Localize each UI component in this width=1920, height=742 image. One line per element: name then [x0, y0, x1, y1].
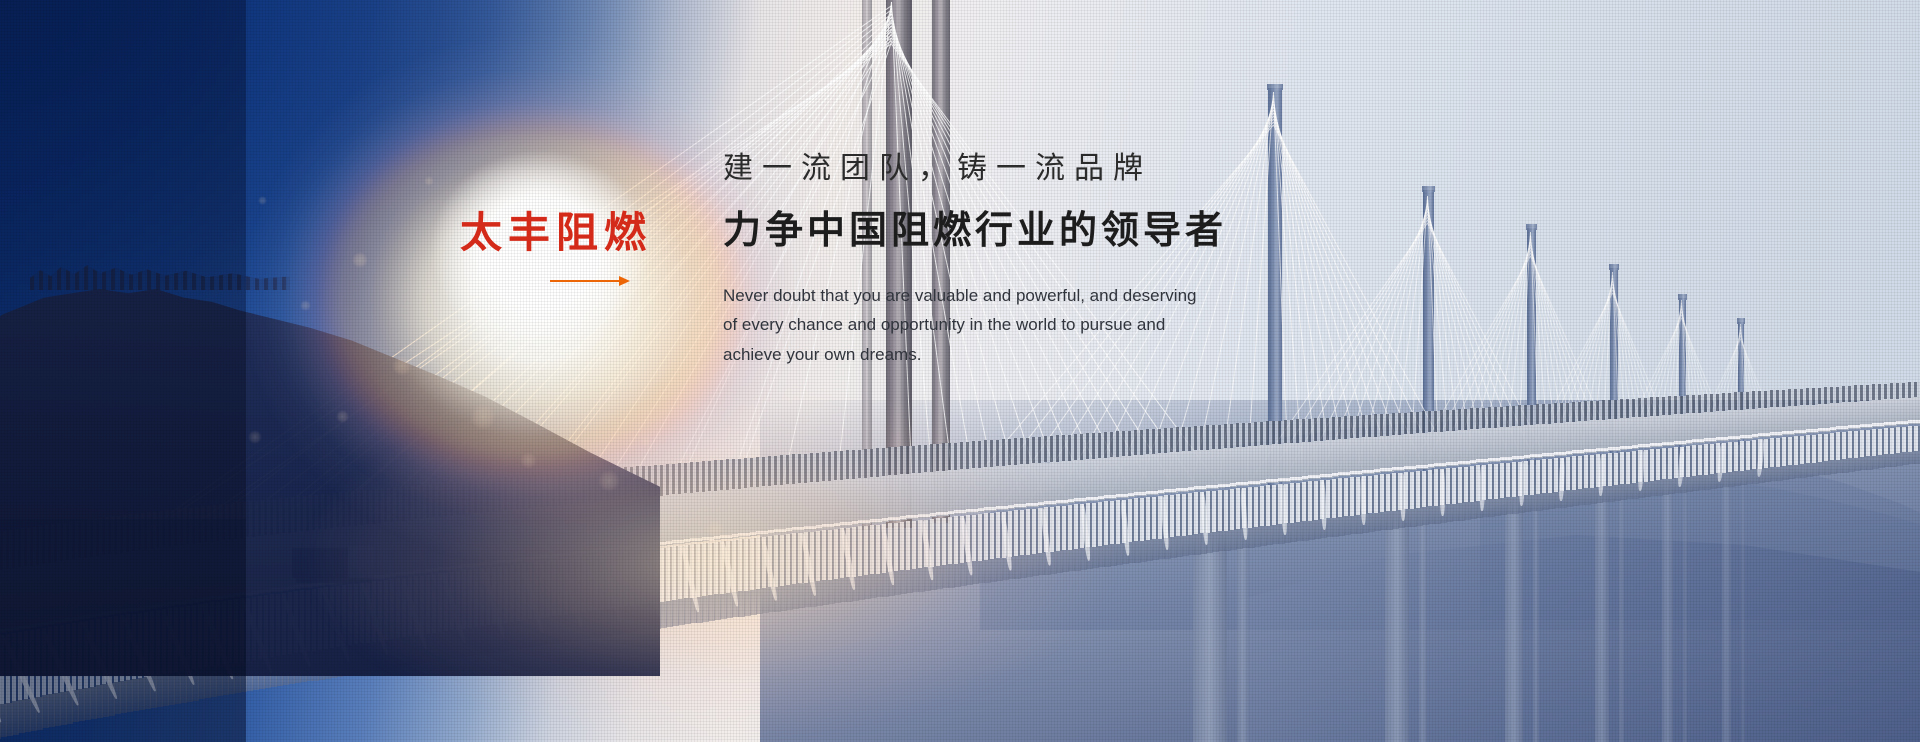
headline-title: 力争中国阻燃行业的领导者	[723, 208, 1363, 254]
headline-subtitle: 建一流团队，铸一流品牌	[723, 150, 1363, 188]
blurb-line: of every chance and opportunity in the w…	[723, 310, 1303, 339]
blurb-line: Never doubt that you are valuable and po…	[723, 281, 1303, 310]
banner-content: 太丰阻燃 建一流团队，铸一流品牌 力争中国阻燃行业的领导者 Never doub…	[0, 0, 1920, 742]
brand-logo[interactable]: 太丰阻燃	[460, 212, 652, 286]
blurb-line: achieve your own dreams.	[723, 340, 1303, 369]
brand-logo-text: 太丰阻燃	[460, 212, 652, 254]
arrow-head	[619, 276, 630, 286]
blurb-paragraph: Never doubt that you are valuable and po…	[723, 281, 1303, 369]
hero-banner: 太丰阻燃 建一流团队，铸一流品牌 力争中国阻燃行业的领导者 Never doub…	[0, 0, 1920, 742]
headline-block: 建一流团队，铸一流品牌 力争中国阻燃行业的领导者 Never doubt tha…	[723, 150, 1363, 369]
arrow-right-icon	[550, 276, 630, 286]
arrow-shaft	[550, 280, 622, 282]
